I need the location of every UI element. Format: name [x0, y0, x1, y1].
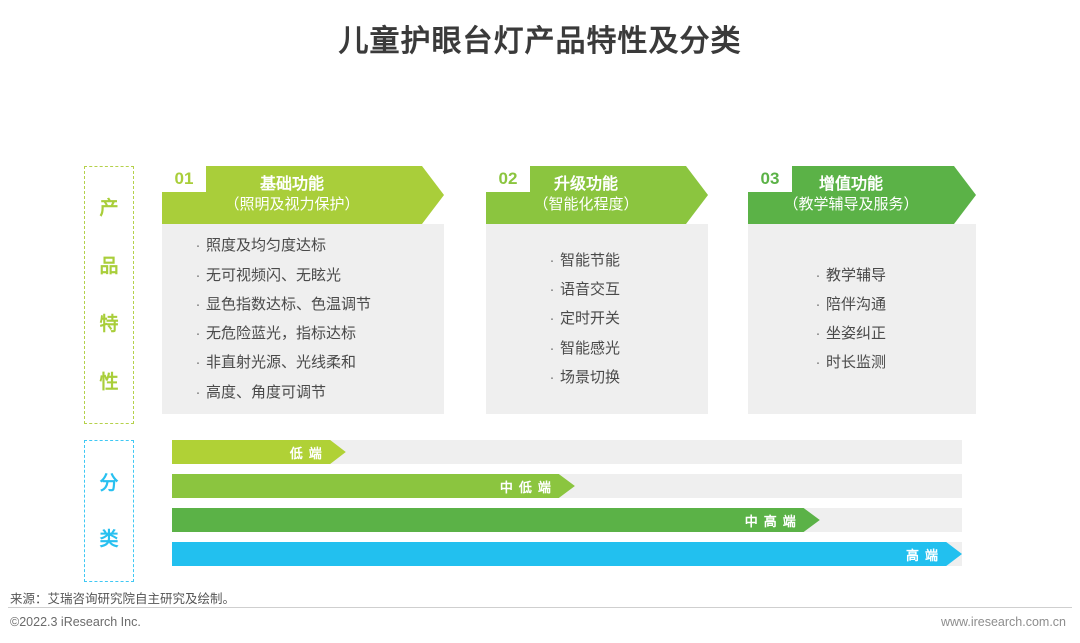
classification-bar-chart: 低端 中低端 中高端 高端 — [172, 440, 962, 576]
list-item: ·场景切换 — [544, 363, 708, 392]
list-item: ·坐姿纠正 — [810, 319, 976, 348]
list-item-label: 语音交互 — [560, 281, 620, 298]
bullet-icon: · — [190, 237, 206, 254]
feature-card-header: 01 基础功能 （照明及视力保护） — [162, 166, 444, 224]
bullet-icon: · — [544, 310, 560, 327]
feature-card-subtitle: （智能化程度） — [533, 195, 638, 215]
list-item-label: 坐姿纠正 — [826, 325, 886, 342]
list-item-label: 非直射光源、光线柔和 — [206, 354, 356, 371]
section-label-char: 性 — [99, 373, 118, 392]
bullet-icon: · — [190, 267, 206, 284]
bullet-icon: · — [810, 267, 826, 284]
list-item: ·无危险蓝光，指标达标 — [190, 319, 444, 348]
section-label-product-features: 产 品 特 性 — [84, 166, 134, 424]
feature-card-body: ·照度及均匀度达标 ·无可视频闪、无眩光 ·显色指数达标、色温调节 ·无危险蓝光… — [162, 224, 444, 414]
section-label-classification: 分 类 — [84, 440, 134, 582]
feature-card-number: 02 — [486, 166, 530, 192]
feature-card-header: 03 增值功能 （教学辅导及服务） — [748, 166, 976, 224]
section-label-char: 特 — [99, 315, 118, 334]
list-item: ·高度、角度可调节 — [190, 378, 444, 407]
section-label-char: 品 — [99, 257, 118, 276]
bullet-icon: · — [544, 369, 560, 386]
bullet-icon: · — [544, 281, 560, 298]
list-item: ·定时开关 — [544, 304, 708, 333]
feature-card-03: 03 增值功能 （教学辅导及服务） ·教学辅导 ·陪伴沟通 ·坐姿纠正 ·时长监… — [748, 166, 976, 414]
feature-card-01: 01 基础功能 （照明及视力保护） ·照度及均匀度达标 ·无可视频闪、无眩光 ·… — [162, 166, 444, 414]
feature-card-number: 03 — [748, 166, 792, 192]
list-item-label: 陪伴沟通 — [826, 296, 886, 313]
bar-row: 高端 — [172, 542, 962, 566]
feature-card-number: 01 — [162, 166, 206, 192]
section-label-char: 分 — [99, 474, 118, 493]
bullet-icon: · — [190, 325, 206, 342]
list-item-label: 智能节能 — [560, 252, 620, 269]
source-note: 来源：艾瑞咨询研究院自主研究及绘制。 — [10, 588, 235, 607]
bar-row: 中高端 — [172, 508, 962, 532]
list-item-label: 时长监测 — [826, 354, 886, 371]
bullet-icon: · — [190, 354, 206, 371]
bar-row: 中低端 — [172, 474, 962, 498]
feature-card-title: 升级功能 — [554, 175, 618, 195]
bar-label: 中低端 — [172, 474, 563, 498]
footer-divider — [8, 607, 1072, 608]
list-item-label: 照度及均匀度达标 — [206, 237, 326, 254]
list-item: ·无可视频闪、无眩光 — [190, 261, 444, 290]
feature-card-body: ·智能节能 ·语音交互 ·定时开关 ·智能感光 ·场景切换 — [486, 224, 708, 414]
feature-card-title: 基础功能 — [260, 175, 324, 195]
list-item-label: 显色指数达标、色温调节 — [206, 296, 371, 313]
feature-card-02: 02 升级功能 （智能化程度） ·智能节能 ·语音交互 ·定时开关 ·智能感光 … — [486, 166, 708, 414]
bar-label: 低端 — [172, 440, 334, 464]
feature-list: ·教学辅导 ·陪伴沟通 ·坐姿纠正 ·时长监测 — [810, 224, 976, 414]
bar-label: 高端 — [172, 542, 950, 566]
list-item: ·智能节能 — [544, 246, 708, 275]
feature-list: ·照度及均匀度达标 ·无可视频闪、无眩光 ·显色指数达标、色温调节 ·无危险蓝光… — [190, 224, 444, 414]
list-item: ·显色指数达标、色温调节 — [190, 290, 444, 319]
page-title: 儿童护眼台灯产品特性及分类 — [0, 16, 1080, 60]
list-item-label: 教学辅导 — [826, 267, 886, 284]
feature-card-body: ·教学辅导 ·陪伴沟通 ·坐姿纠正 ·时长监测 — [748, 224, 976, 414]
section-label-char: 产 — [99, 199, 118, 218]
feature-card-title: 增值功能 — [819, 175, 883, 195]
section-label-char: 类 — [99, 530, 118, 549]
copyright-text: ©2022.3 iResearch Inc. — [10, 615, 141, 629]
bullet-icon: · — [544, 252, 560, 269]
bullet-icon: · — [810, 325, 826, 342]
list-item-label: 无危险蓝光，指标达标 — [206, 325, 356, 342]
feature-card-subtitle: （教学辅导及服务） — [783, 195, 918, 215]
list-item: ·教学辅导 — [810, 261, 976, 290]
bullet-icon: · — [190, 384, 206, 401]
feature-list: ·智能节能 ·语音交互 ·定时开关 ·智能感光 ·场景切换 — [544, 224, 708, 414]
bullet-icon: · — [810, 296, 826, 313]
list-item: ·时长监测 — [810, 348, 976, 377]
website-link[interactable]: www.iresearch.com.cn — [941, 615, 1066, 629]
list-item: ·陪伴沟通 — [810, 290, 976, 319]
list-item: ·非直射光源、光线柔和 — [190, 348, 444, 377]
bullet-icon: · — [544, 340, 560, 357]
list-item-label: 定时开关 — [560, 310, 620, 327]
bar-row: 低端 — [172, 440, 962, 464]
list-item-label: 高度、角度可调节 — [206, 384, 326, 401]
bullet-icon: · — [190, 296, 206, 313]
list-item-label: 无可视频闪、无眩光 — [206, 267, 341, 284]
list-item: ·智能感光 — [544, 334, 708, 363]
feature-card-subtitle: （照明及视力保护） — [224, 195, 359, 215]
list-item: ·语音交互 — [544, 275, 708, 304]
list-item: ·照度及均匀度达标 — [190, 231, 444, 260]
list-item-label: 场景切换 — [560, 369, 620, 386]
feature-card-header: 02 升级功能 （智能化程度） — [486, 166, 708, 224]
bar-label: 中高端 — [172, 508, 808, 532]
bullet-icon: · — [810, 354, 826, 371]
list-item-label: 智能感光 — [560, 340, 620, 357]
